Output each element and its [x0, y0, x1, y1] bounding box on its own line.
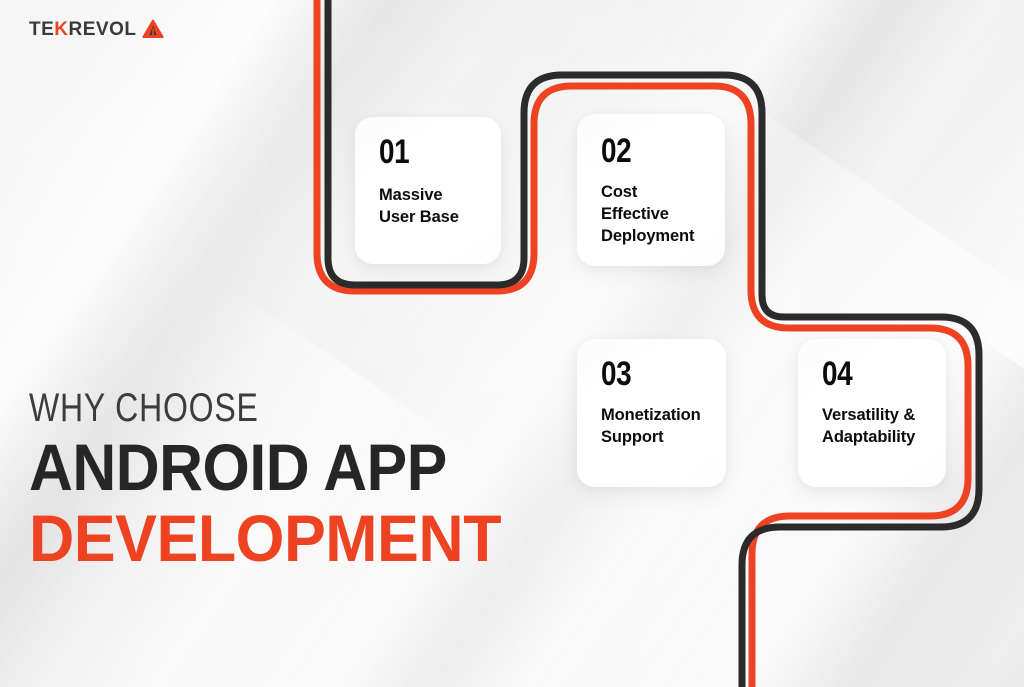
- card-number: 03: [601, 357, 631, 391]
- feature-card-02[interactable]: 02 Cost Effective Deployment: [577, 114, 725, 266]
- infographic-canvas: TEKREVOL WHY CHOOSE ANDROID APP DEVELOPM…: [0, 0, 1024, 687]
- feature-card-04[interactable]: 04 Versatility & Adaptability: [798, 339, 946, 487]
- feature-card-01[interactable]: 01 Massive User Base: [355, 117, 501, 264]
- feature-card-03[interactable]: 03 Monetization Support: [577, 339, 726, 487]
- page-title: WHY CHOOSE ANDROID APP DEVELOPMENT: [29, 388, 549, 575]
- logo-text-lead: TE: [29, 19, 54, 40]
- headline-line-3: DEVELOPMENT: [29, 503, 523, 574]
- card-number: 02: [601, 134, 631, 168]
- card-title: Versatility & Adaptability: [822, 405, 934, 449]
- card-title: Massive User Base: [379, 185, 489, 229]
- logo-text-tail: REVOL: [69, 19, 137, 40]
- card-title: Monetization Support: [601, 405, 714, 449]
- card-number: 04: [822, 357, 852, 391]
- brand-logo[interactable]: TEKREVOL: [29, 19, 164, 39]
- logo-wordmark: TEKREVOL: [29, 20, 136, 39]
- triangle-mark-icon: [142, 19, 164, 39]
- headline-line-1: WHY CHOOSE: [29, 388, 445, 428]
- logo-text-accent: K: [54, 19, 68, 40]
- card-title: Cost Effective Deployment: [601, 182, 713, 248]
- headline-line-2: ANDROID APP: [29, 432, 507, 503]
- card-number: 01: [379, 135, 409, 169]
